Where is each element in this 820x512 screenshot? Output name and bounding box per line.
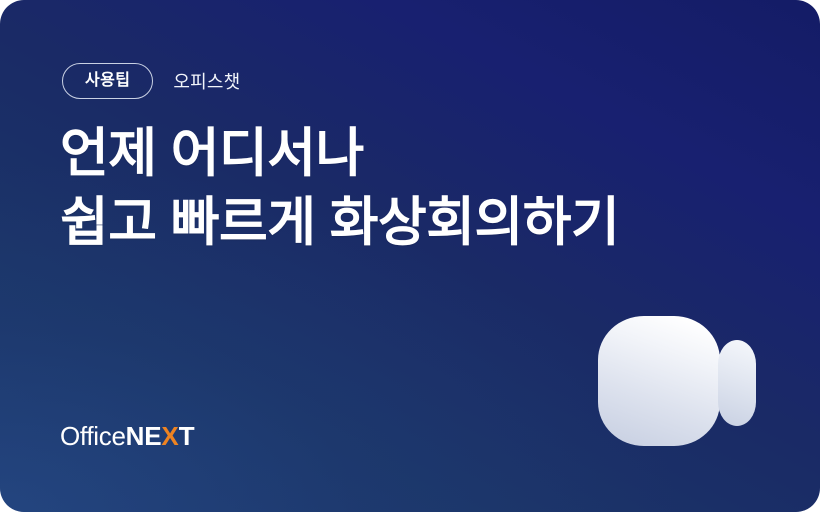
brand-logo-office: Office <box>60 421 126 451</box>
video-camera-icon <box>598 314 758 449</box>
camera-body-shape <box>598 316 720 446</box>
tip-badge: 사용팁 <box>62 63 153 99</box>
camera-lens-shape <box>718 340 756 426</box>
brand-logo: OfficeNEXT <box>60 423 194 449</box>
brand-logo-t: T <box>179 421 195 451</box>
promo-banner: 사용팁 오피스챗 언제 어디서나 쉽고 빠르게 화상회의하기 OfficeNEX… <box>0 0 820 512</box>
headline-line-1: 언제 어디서나 <box>60 120 619 189</box>
headline-line-2: 쉽고 빠르게 화상회의하기 <box>60 189 619 258</box>
banner-meta-row: 사용팁 오피스챗 <box>62 63 240 99</box>
page-title: 언제 어디서나 쉽고 빠르게 화상회의하기 <box>60 120 619 258</box>
brand-logo-x-accent: X <box>161 421 178 451</box>
category-label: 오피스챗 <box>173 68 240 94</box>
brand-logo-ne: NE <box>126 421 162 451</box>
